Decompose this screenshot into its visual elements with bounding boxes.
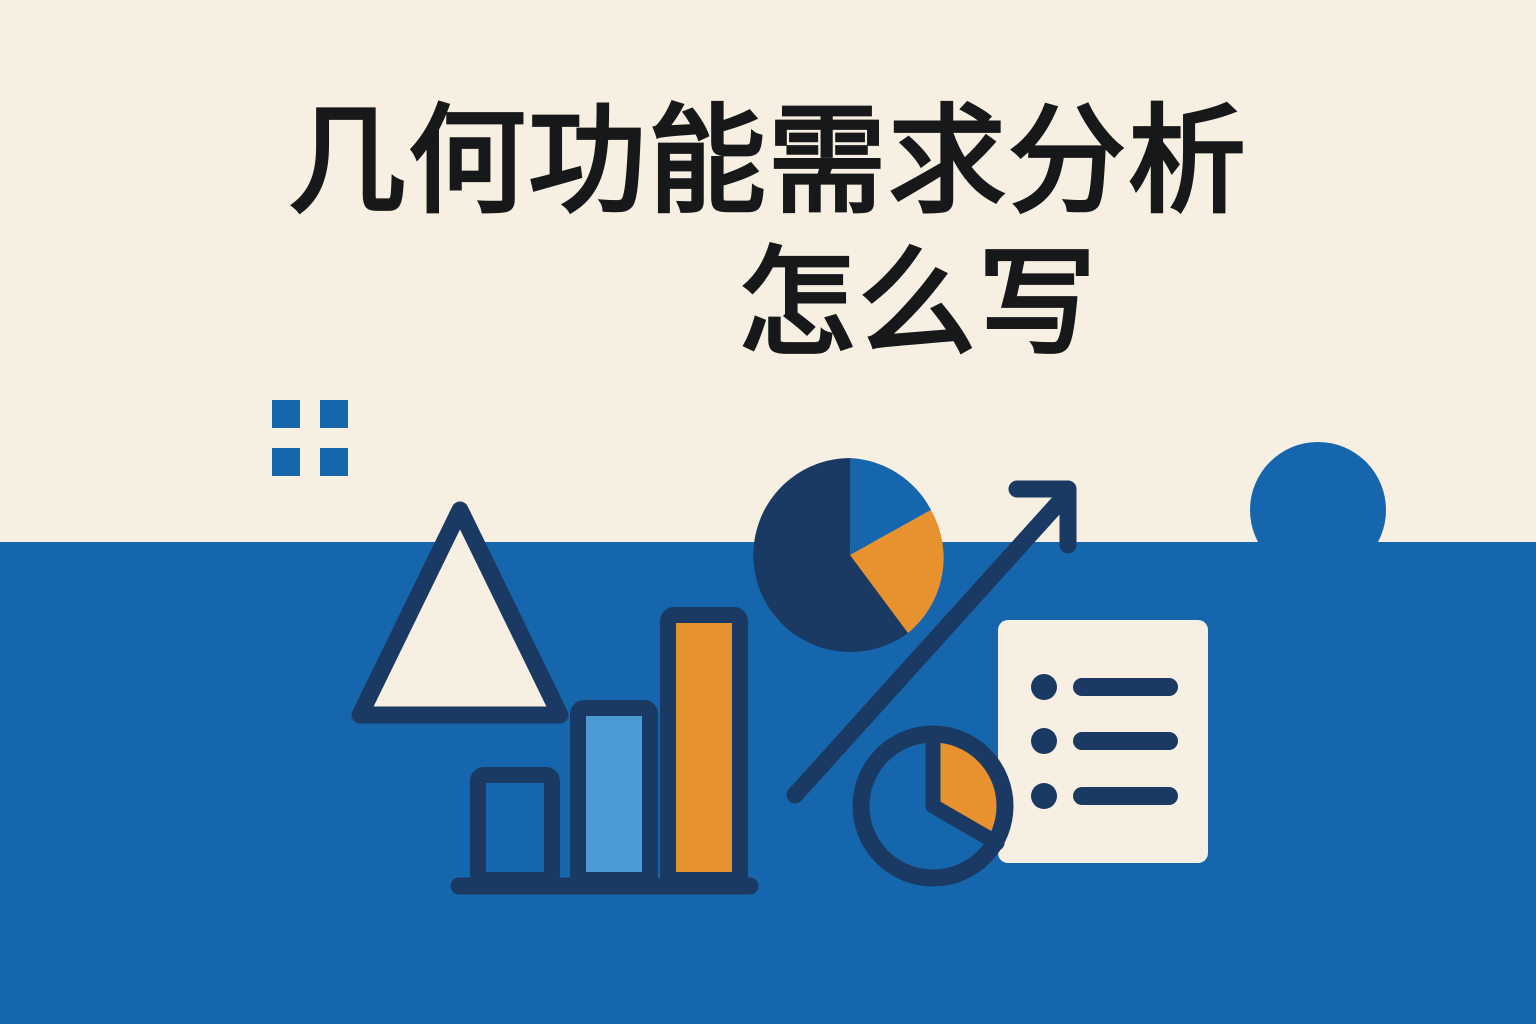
pie-chart-large-icon xyxy=(753,458,943,652)
cover-canvas: 几何功能需求分析 怎么写 xyxy=(0,0,1536,1024)
checklist-card-icon xyxy=(998,620,1208,863)
four-square-grid-icon xyxy=(272,400,348,476)
triangle-icon xyxy=(360,510,560,715)
pie-chart-small-outline-icon xyxy=(861,734,1007,878)
illustration-layer xyxy=(0,0,1536,1024)
blue-circle-icon xyxy=(1250,442,1386,578)
